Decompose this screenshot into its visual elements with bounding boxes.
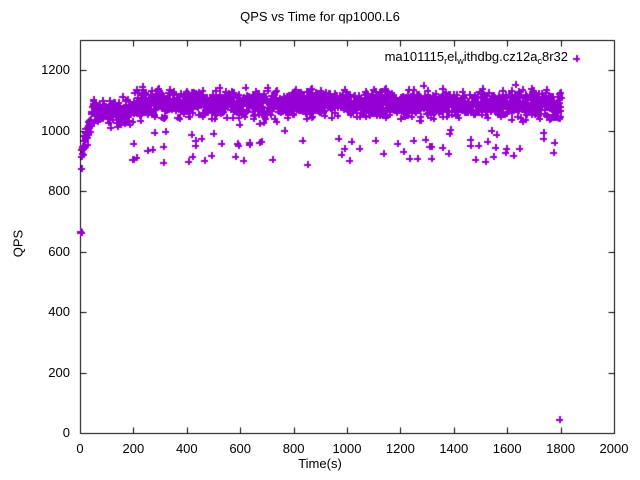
x-tick-label-200: 200 [103,442,163,455]
x-tick-label-600: 600 [210,442,270,455]
legend-label-part-2: el [447,49,457,64]
x-tick-label-1000: 1000 [317,442,377,455]
legend-label-part-3: w [457,56,464,66]
y-tick-label-0: 0 [10,426,70,439]
legend-label-part-1: r [444,56,447,66]
scatter-plot-canvas [0,0,640,480]
x-tick-label-1600: 1600 [477,442,537,455]
legend-label-part-5: c [537,56,542,66]
x-axis-title: Time(s) [0,457,640,470]
chart-title: QPS vs Time for qp1000.L6 [0,10,640,23]
legend-label-part-6: 8r32 [542,49,568,64]
x-tick-label-400: 400 [157,442,217,455]
y-tick-label-600: 600 [10,245,70,258]
y-axis-title: QPS [12,214,25,274]
x-tick-label-1200: 1200 [370,442,430,455]
legend-label-part-0: ma101115 [385,49,445,64]
y-tick-label-200: 200 [10,366,70,379]
y-tick-label-400: 400 [10,305,70,318]
y-tick-label-800: 800 [10,184,70,197]
x-tick-label-0: 0 [50,442,110,455]
x-tick-label-1400: 1400 [424,442,484,455]
y-tick-label-1000: 1000 [10,124,70,137]
x-tick-label-1800: 1800 [531,442,591,455]
chart-container: QPS vs Time for qp1000.L6 ma101115relwit… [0,0,640,480]
legend-label-part-4: ithdbg.cz12a [464,49,538,64]
y-tick-label-1200: 1200 [10,63,70,76]
x-tick-label-2000: 2000 [584,442,640,455]
legend-entry-label: ma101115relwithdbg.cz12ac8r32 [385,50,568,65]
x-tick-label-800: 800 [264,442,324,455]
